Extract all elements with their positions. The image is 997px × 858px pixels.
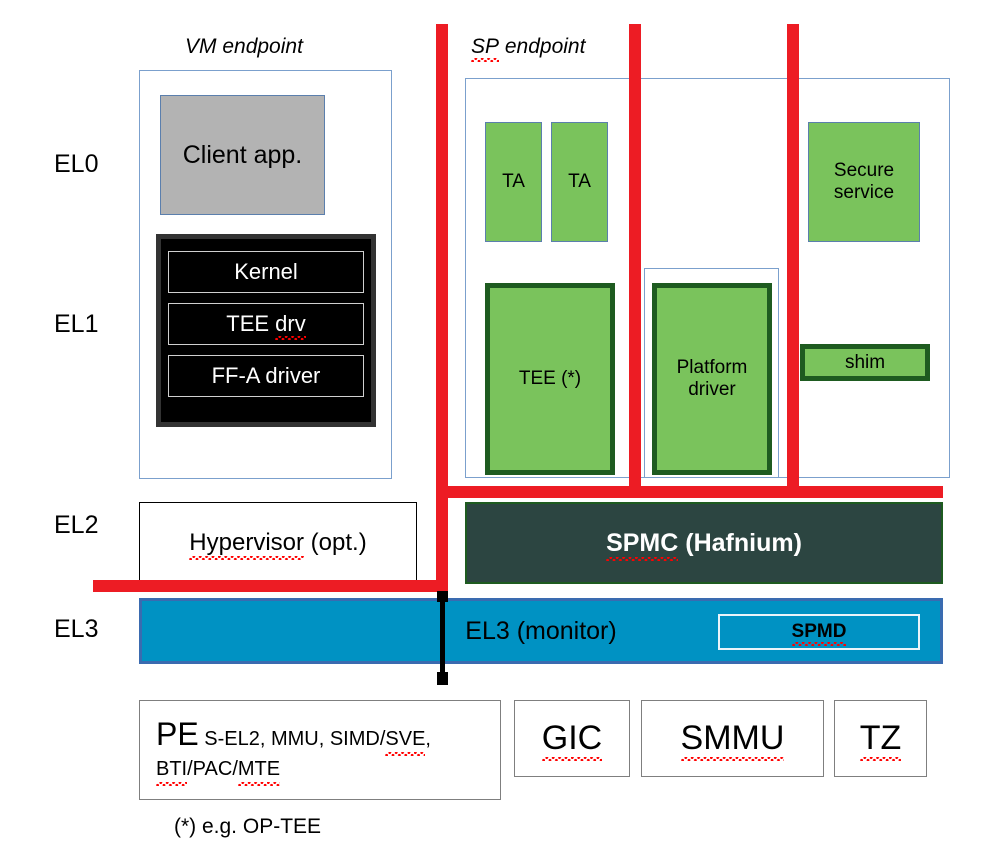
tz-label: TZ [860,719,902,758]
vm-endpoint-title: VM endpoint [185,35,303,59]
smmu-box[interactable]: SMMU [641,700,824,777]
tz-box[interactable]: TZ [834,700,927,777]
spmd-box[interactable]: SPMD [718,614,920,650]
guest-kernel-stack: Kernel TEE drv FF-A driver [156,234,376,427]
pe-detail-2: BTI/PAC/MTE [156,758,280,780]
exception-level-label-el3: EL3 [54,615,98,644]
security-boundary-line-vertical-2 [629,24,641,492]
tee-label: TEE (*) [519,368,581,390]
ffa-driver-box[interactable]: FF-A driver [168,355,364,397]
gic-label: GIC [542,719,602,758]
exception-level-label-el0: EL0 [54,150,98,179]
tee-drv-label: TEE drv [226,311,305,337]
spmc-box[interactable]: SPMC (Hafnium) [465,502,943,584]
security-boundary-line-horizontal-lower [93,580,448,592]
ta-box-1[interactable]: TA [485,122,542,242]
connector-line-vertical [440,598,445,678]
platform-driver-box[interactable]: Platformdriver [652,283,772,475]
connector-node-bottom [437,672,448,685]
gic-box[interactable]: GIC [514,700,630,777]
el3-monitor-label: EL3 (monitor) [465,617,616,646]
diagram-canvas: EL0 EL1 EL2 EL3 VM endpoint SP endpoint … [0,0,997,858]
pe-box[interactable]: PE S-EL2, MMU, SIMD/SVE, BTI/PAC/MTE [139,700,501,800]
platform-driver-label: Platformdriver [677,357,748,401]
ta-label-1: TA [502,171,525,193]
sp-endpoint-title-rest: endpoint [499,35,585,58]
pe-name: PE [156,716,199,752]
sp-endpoint-title: SP endpoint [471,35,585,59]
ffa-driver-label: FF-A driver [212,363,321,389]
spmd-label: SPMD [792,621,847,643]
security-boundary-line-horizontal-upper [436,486,943,498]
security-boundary-line-vertical-1 [436,24,448,592]
footnote-op-tee: (*) e.g. OP-TEE [174,815,321,839]
security-boundary-line-vertical-3 [787,24,799,492]
client-app-label: Client app. [183,141,303,170]
tee-drv-box[interactable]: TEE drv [168,303,364,345]
smmu-label: SMMU [681,719,785,758]
shim-label: shim [845,352,885,374]
exception-level-label-el2: EL2 [54,511,98,540]
hypervisor-box[interactable]: Hypervisor (opt.) [139,502,417,584]
shim-box[interactable]: shim [800,344,930,381]
secure-service-box[interactable]: Secureservice [808,122,920,242]
tee-box[interactable]: TEE (*) [485,283,615,475]
pe-detail-1: S-EL2, MMU, SIMD/SVE, [204,728,431,750]
sp-endpoint-title-text: SP [471,35,499,59]
ta-box-2[interactable]: TA [551,122,608,242]
kernel-label: Kernel [234,259,298,285]
exception-level-label-el1: EL1 [54,310,98,339]
secure-service-label: Secureservice [834,160,894,204]
pe-text: PE S-EL2, MMU, SIMD/SVE, BTI/PAC/MTE [140,701,500,783]
kernel-box[interactable]: Kernel [168,251,364,293]
client-app-box[interactable]: Client app. [160,95,325,215]
spmc-label: SPMC (Hafnium) [606,529,802,558]
ta-label-2: TA [568,171,591,193]
hypervisor-label: Hypervisor (opt.) [189,529,366,557]
